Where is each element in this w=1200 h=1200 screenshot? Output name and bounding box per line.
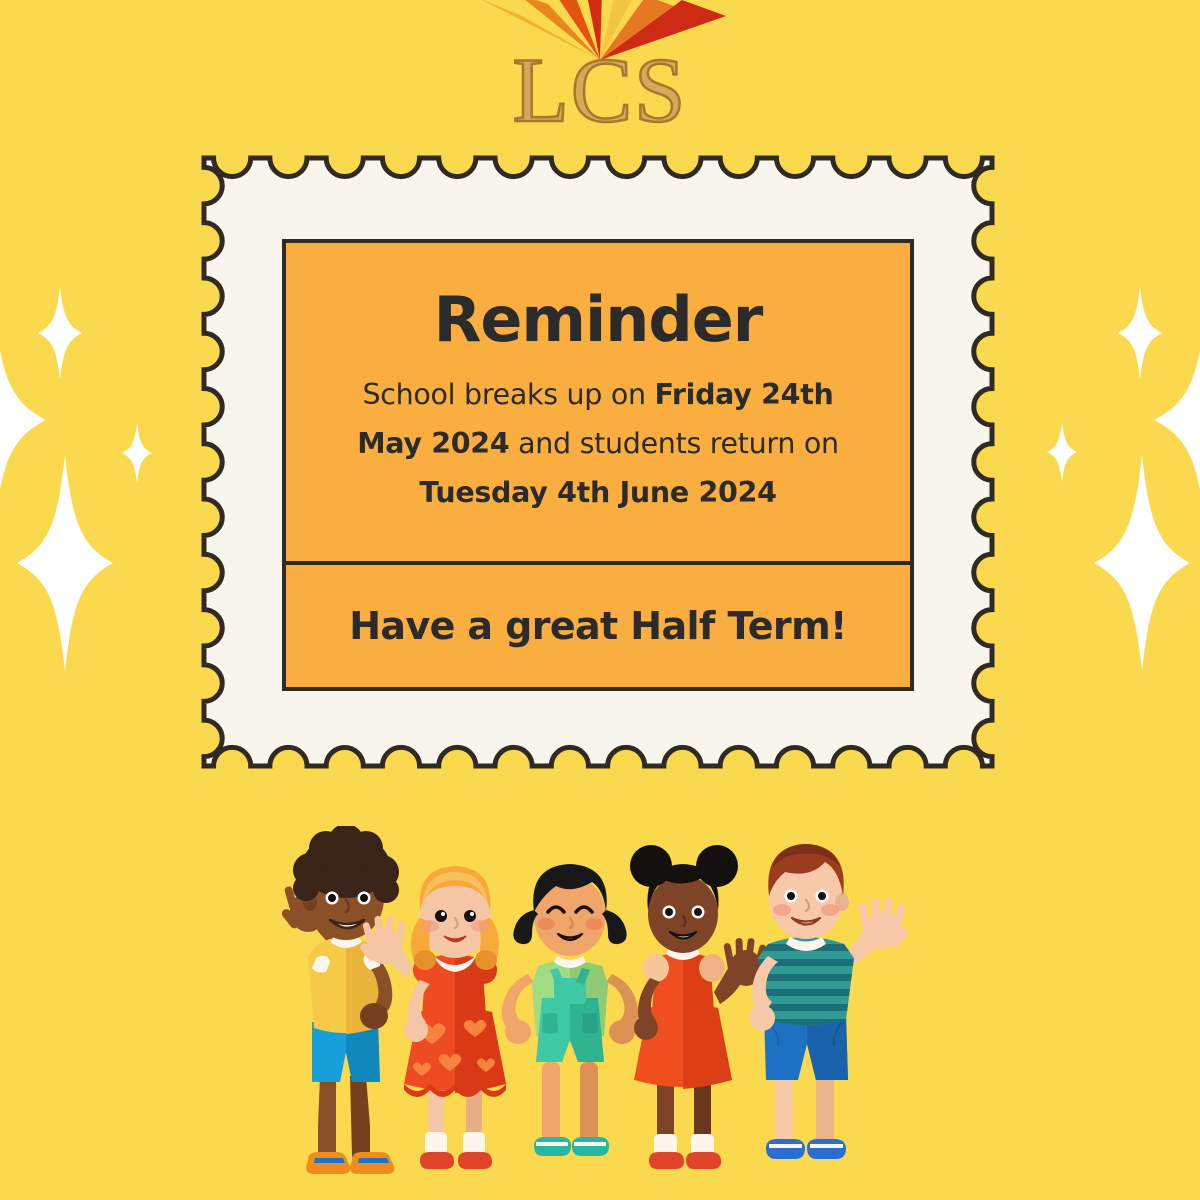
sparkle-right-tiny-mid bbox=[1047, 422, 1077, 482]
child-girl-orange-dress-buns bbox=[630, 845, 770, 1169]
tagline-text: Have a great Half Term! bbox=[349, 604, 847, 648]
sparkle-left-tiny-mid bbox=[122, 423, 152, 483]
reminder-line-1: School breaks up on Friday 24th bbox=[362, 370, 833, 419]
stamp-upper-section: Reminder School breaks up on Friday 24th… bbox=[286, 243, 910, 561]
reminder-line-2-plain-after: and students return on bbox=[509, 427, 838, 460]
sparkle-right-large-edge bbox=[1154, 310, 1200, 530]
reminder-line-2: May 2024 and students return on bbox=[357, 419, 839, 468]
stamp-lower-section: Have a great Half Term! bbox=[286, 565, 910, 687]
sparkle-left-small-top bbox=[38, 287, 82, 379]
reminder-line-1-bold: Friday 24th bbox=[655, 378, 834, 411]
logo-wordmark: LCS bbox=[0, 44, 1200, 136]
child-boy-yellow-shirt bbox=[280, 826, 399, 1174]
sparkle-right-small-top bbox=[1118, 287, 1162, 379]
reminder-line-3: Tuesday 4th June 2024 bbox=[419, 468, 776, 517]
child-boy-teal-striped-shirt bbox=[749, 844, 910, 1159]
reminder-line-3-bold: Tuesday 4th June 2024 bbox=[419, 476, 776, 509]
sparkle-right-large-bottom bbox=[1094, 455, 1190, 671]
children-illustration bbox=[270, 826, 930, 1200]
stamp-inner-panel: Reminder School breaks up on Friday 24th… bbox=[282, 239, 914, 691]
reminder-line-1-plain-before: School breaks up on bbox=[362, 378, 654, 411]
poster-canvas: LCS Reminder School breaks up on Friday … bbox=[0, 0, 1200, 1200]
stamp-card: Reminder School breaks up on Friday 24th… bbox=[198, 152, 998, 772]
reminder-line-2-bold: May 2024 bbox=[357, 427, 509, 460]
sparkle-left-large-edge bbox=[0, 310, 46, 530]
child-girl-green-dungarees bbox=[502, 864, 639, 1156]
brand-logo: LCS bbox=[0, 0, 1200, 150]
page-title: Reminder bbox=[434, 287, 763, 352]
sparkle-left-large-bottom bbox=[17, 455, 113, 671]
